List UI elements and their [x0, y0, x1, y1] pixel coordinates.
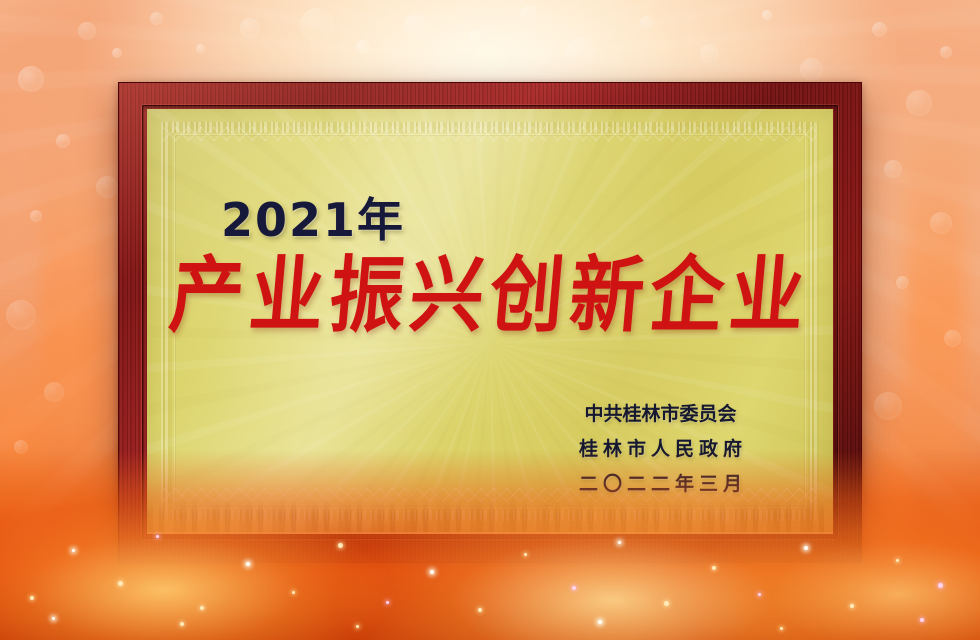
issuer-line-1: 中共桂林市委员会: [574, 405, 747, 424]
glitter-floor: [0, 450, 980, 640]
award-plaque-scene: 2021年 产业振兴创新企业 中共桂林市委员会 桂林市人民政府 二〇二二年三月: [0, 0, 980, 640]
award-title: 产业振兴创新企业: [147, 255, 833, 338]
award-year-label: 2021年: [221, 184, 405, 250]
